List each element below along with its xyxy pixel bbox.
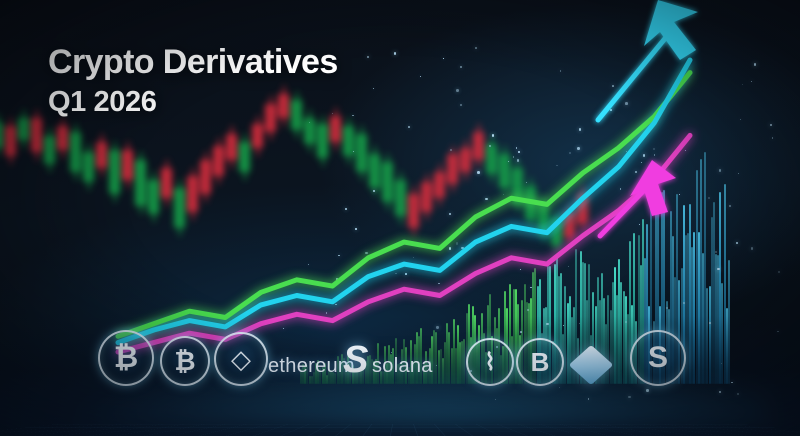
promo-banner: Coinw Crypto Derivatives Q1 2026 [0,0,800,436]
vignette-overlay [0,0,800,436]
